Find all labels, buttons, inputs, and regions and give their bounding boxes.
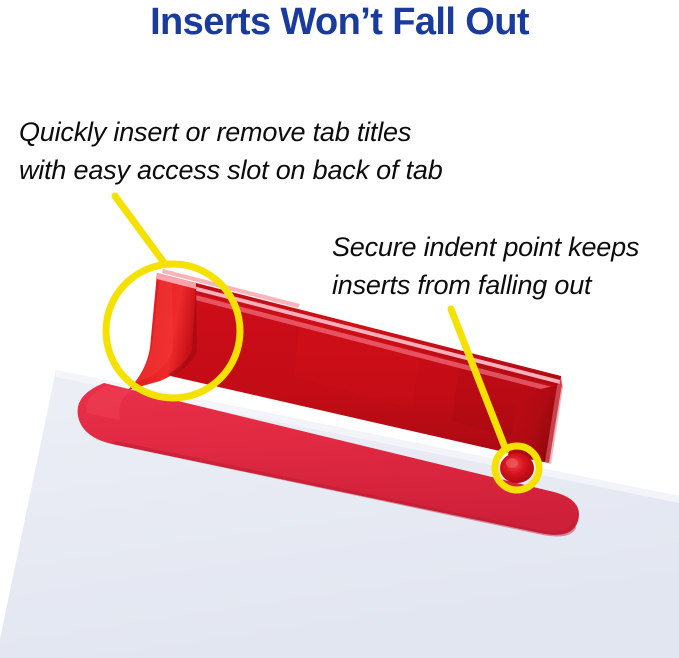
callout-line-2: inserts from falling out xyxy=(332,266,639,304)
callout-line-2: with easy access slot on back of tab xyxy=(19,151,443,189)
callout-line-1: Secure indent point keeps xyxy=(332,228,639,266)
callout-text-easy-access-slot: Quickly insert or remove tab titles with… xyxy=(19,113,443,189)
product-illustration xyxy=(0,0,679,658)
indent-point-bump xyxy=(500,453,534,483)
callout-text-secure-indent-point: Secure indent point keeps inserts from f… xyxy=(332,228,639,304)
infographic-canvas: Inserts Won’t Fall Out xyxy=(0,0,679,658)
callout-line-1: Quickly insert or remove tab titles xyxy=(19,113,443,151)
